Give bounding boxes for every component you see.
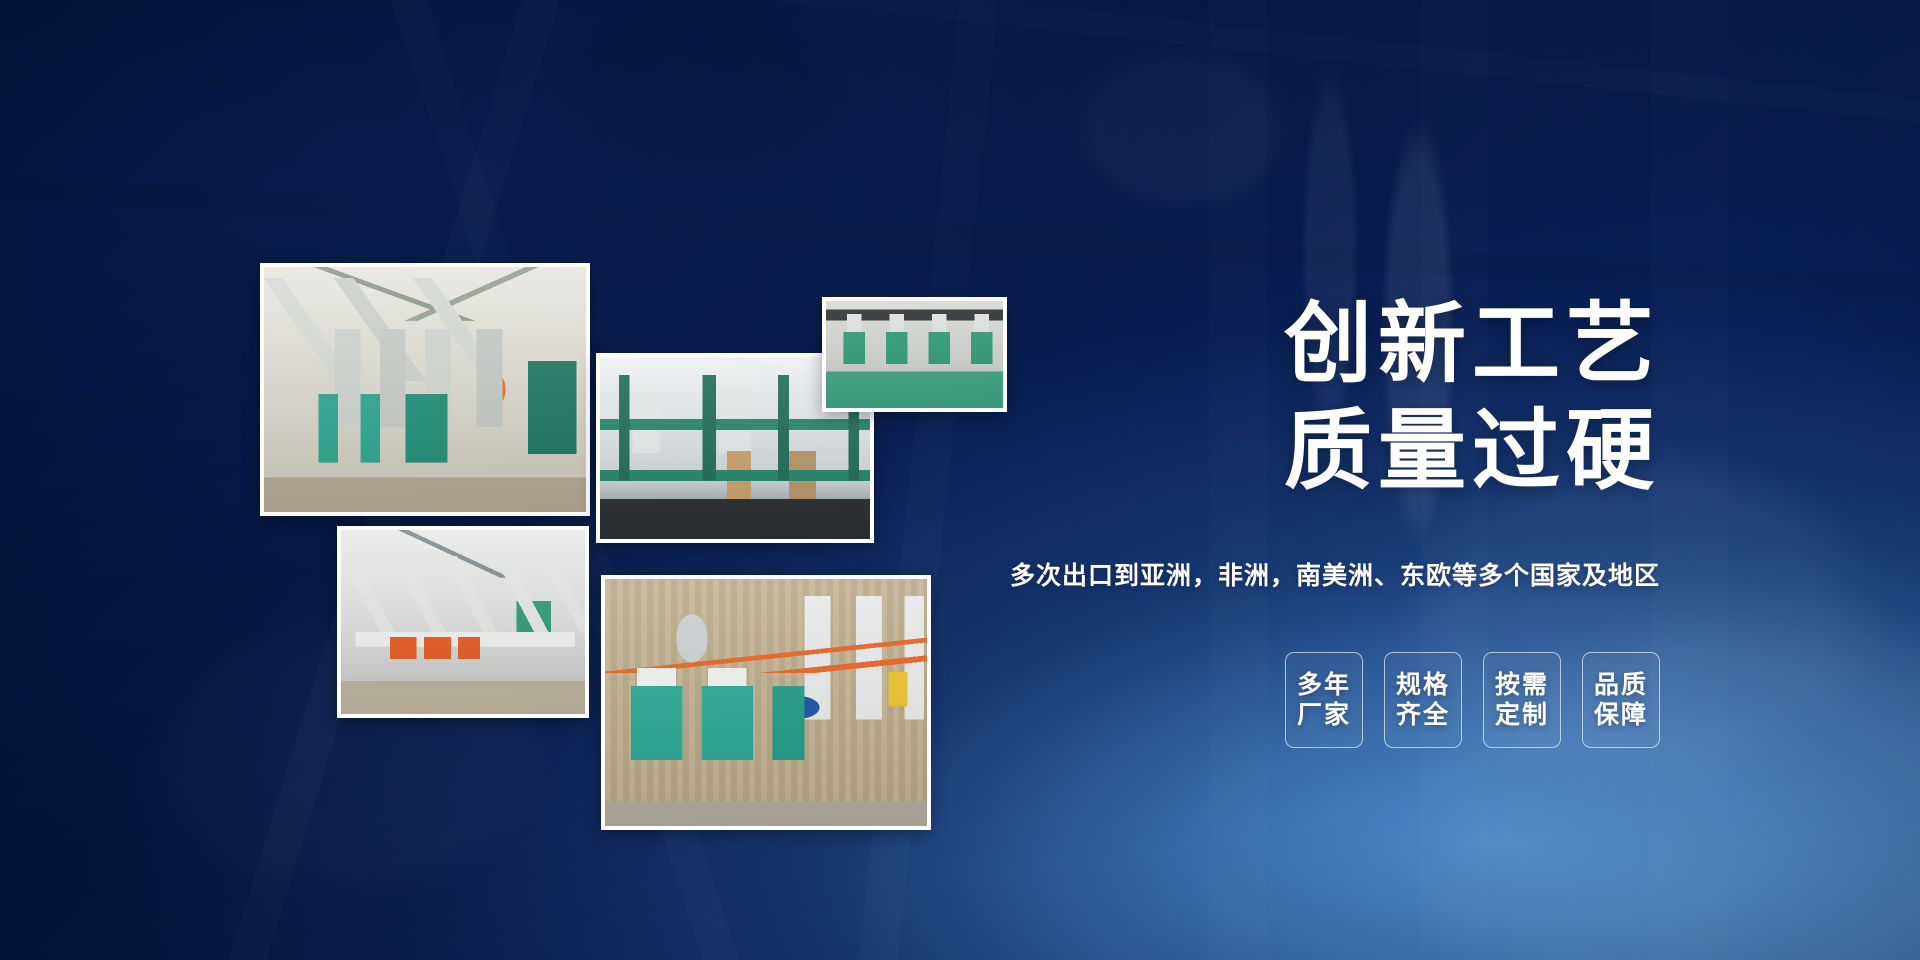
banner-copy: 创新工艺 质量过硬 多次出口到亚洲，非洲，南美洲、东欧等多个国家及地区 多年 厂… xyxy=(1000,0,1920,960)
feature-badge-years[interactable]: 多年 厂家 xyxy=(1285,652,1363,748)
photo-1-image xyxy=(264,267,586,512)
feature-badge-specs[interactable]: 规格 齐全 xyxy=(1384,652,1462,748)
feature-badge-list: 多年 厂家 规格 齐全 按需 定制 品质 保障 xyxy=(1000,652,1660,748)
collage-photo-5[interactable] xyxy=(601,575,931,830)
headline-line-2: 质量过硬 xyxy=(1000,397,1660,504)
badge-1-line-2: 厂家 xyxy=(1297,700,1351,731)
photo-collage xyxy=(0,0,1060,960)
collage-photo-3[interactable] xyxy=(822,297,1007,412)
collage-photo-4[interactable] xyxy=(337,526,589,718)
photo-4-image xyxy=(341,530,585,714)
badge-2-line-1: 规格 xyxy=(1396,670,1450,701)
promo-banner: 创新工艺 质量过硬 多次出口到亚洲，非洲，南美洲、东欧等多个国家及地区 多年 厂… xyxy=(0,0,1920,960)
photo-3-image xyxy=(826,301,1003,408)
badge-2-line-2: 齐全 xyxy=(1396,700,1450,731)
headline: 创新工艺 质量过硬 xyxy=(1000,290,1660,505)
badge-4-line-2: 保障 xyxy=(1594,700,1648,731)
collage-photo-1[interactable] xyxy=(260,263,590,516)
badge-3-line-2: 定制 xyxy=(1495,700,1549,731)
feature-badge-custom[interactable]: 按需 定制 xyxy=(1483,652,1561,748)
badge-1-line-1: 多年 xyxy=(1297,670,1351,701)
badge-3-line-1: 按需 xyxy=(1495,670,1549,701)
photo-5-image xyxy=(605,579,927,826)
feature-badge-quality[interactable]: 品质 保障 xyxy=(1582,652,1660,748)
headline-line-1: 创新工艺 xyxy=(1000,290,1660,397)
badge-4-line-1: 品质 xyxy=(1594,670,1648,701)
subtitle: 多次出口到亚洲，非洲，南美洲、东欧等多个国家及地区 xyxy=(1000,556,1660,592)
